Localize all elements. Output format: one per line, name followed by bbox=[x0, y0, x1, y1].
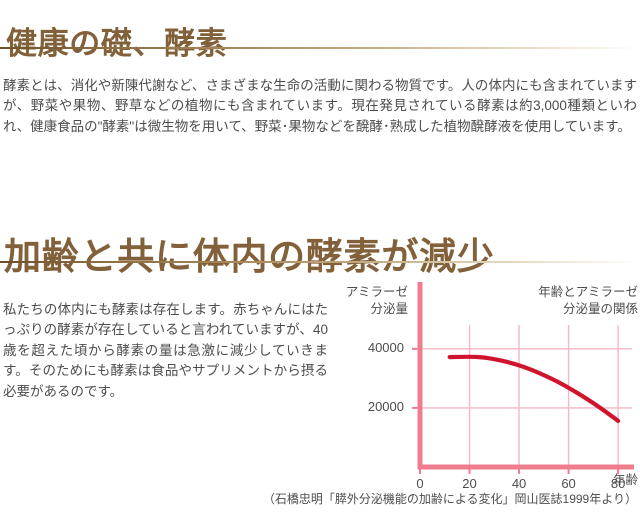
chart-source-citation: （石橋忠明「膵外分泌機能の加齢による変化」岡山医誌1999年より） bbox=[263, 491, 637, 508]
chart-y-tick-40000: 40000 bbox=[342, 340, 404, 355]
section-1-body-text: 酵素とは、消化や新陳代謝など、さまざまな生命の活動に関わる物質です。人の体内にも… bbox=[3, 76, 637, 138]
chart-axes bbox=[418, 282, 635, 467]
chart-x-tick-40: 40 bbox=[499, 476, 539, 491]
chart-line-series bbox=[450, 357, 618, 421]
section-2-heading: 加齢と共に体内の酵素が減少 bbox=[4, 233, 495, 283]
chart-gridlines bbox=[420, 325, 632, 467]
chart-y-tick-20000: 20000 bbox=[342, 399, 404, 414]
chart-x-tick-20: 20 bbox=[450, 476, 490, 491]
chart-tick-marks bbox=[412, 349, 618, 474]
section-2-divider bbox=[0, 261, 640, 263]
section-1-divider bbox=[0, 47, 640, 49]
amylase-secretion-chart: アミラーゼ 分泌量 年齢とアミラーゼ 分泌量の関係 020406080 2000… bbox=[330, 282, 640, 512]
section-2-body-text: 私たちの体内にも酵素は存在します。赤ちゃんにはたっぷりの酵素が存在していると言わ… bbox=[3, 300, 328, 403]
section-1-heading: 健康の礎、酵素 bbox=[6, 23, 227, 65]
chart-x-tick-0: 0 bbox=[400, 476, 440, 491]
chart-x-axis-label: 年齢 bbox=[578, 472, 638, 489]
